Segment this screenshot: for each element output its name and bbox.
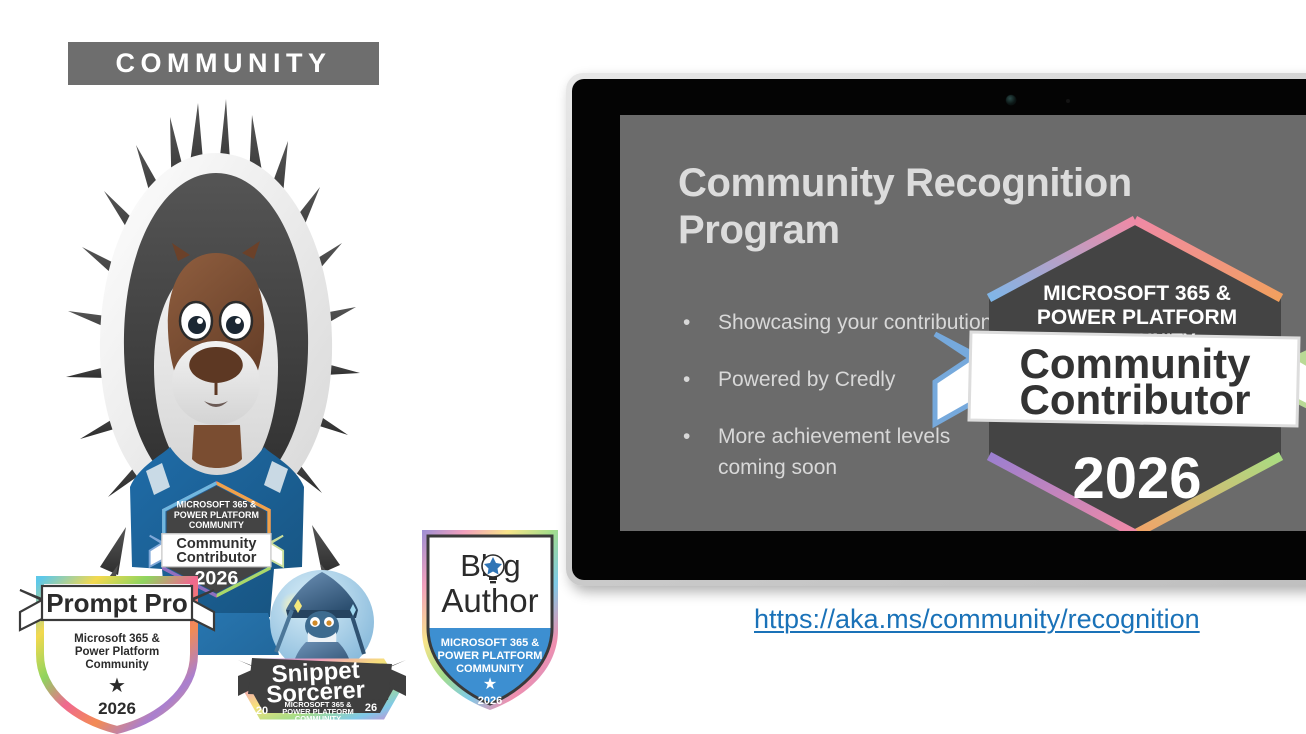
badge-prompt-pro: Prompt Pro Microsoft 365 & Power Platfor… <box>18 568 216 733</box>
svg-text:2026: 2026 <box>478 695 502 707</box>
year-right: 26 <box>365 702 377 714</box>
svg-text:Power Platform: Power Platform <box>75 646 159 658</box>
svg-text:Microsoft 365 &: Microsoft 365 & <box>74 633 160 645</box>
year-left: 20 <box>256 705 268 717</box>
sensor-icon <box>1066 99 1070 103</box>
badge-title-line2: Author <box>441 582 538 619</box>
svg-text:POWER PLATFORM: POWER PLATFORM <box>1037 306 1237 329</box>
bullet-icon: • <box>683 421 690 452</box>
svg-text:Contributor: Contributor <box>176 550 256 566</box>
star-icon: ★ <box>108 673 126 697</box>
recognition-link[interactable]: https://aka.ms/community/recognition <box>754 604 1200 635</box>
badge-title-tail: g <box>503 548 520 583</box>
svg-text:2026: 2026 <box>98 699 136 718</box>
svg-text:MICROSOFT 365 &: MICROSOFT 365 & <box>441 637 539 649</box>
bullet-icon: • <box>683 307 690 338</box>
community-contributor-badge: MICROSOFT 365 & POWER PLATFORM COMMUNITY… <box>925 212 1306 531</box>
bullet-text: Powered by Credly <box>718 368 895 391</box>
svg-text:COMMUNITY: COMMUNITY <box>189 520 244 530</box>
section-label-community: COMMUNITY <box>68 42 379 85</box>
bullet-icon: • <box>683 364 690 395</box>
svg-text:Community: Community <box>176 536 257 552</box>
badge-snippet-sorcerer: Snippet Sorcerer 20 26 MICROSOFT 365 & P… <box>232 566 412 734</box>
star-icon: ★ <box>483 674 497 693</box>
ribbon-line2: Contributor <box>1020 376 1251 423</box>
presentation-slide: Community Recognition Program • Showcasi… <box>620 115 1306 531</box>
svg-text:POWER PLATFORM: POWER PLATFORM <box>438 650 543 662</box>
neck <box>192 425 242 468</box>
svg-text:POWER PLATFORM: POWER PLATFORM <box>174 510 259 520</box>
badge-title: Prompt Pro <box>46 588 188 618</box>
badge-blog-author: Bl g Author MICROSOFT 365 & POWER PLATFO… <box>414 528 566 711</box>
svg-text:Community: Community <box>85 659 149 671</box>
camera-icon <box>1006 95 1016 105</box>
star-icon: ★ <box>312 722 325 734</box>
bullet-text: More achievement levels coming soon <box>718 425 950 479</box>
tablet-bezel: Community Recognition Program • Showcasi… <box>572 79 1306 580</box>
svg-text:MICROSOFT 365 &: MICROSOFT 365 & <box>176 499 256 509</box>
section-label-text: COMMUNITY <box>116 50 332 77</box>
svg-text:MICROSOFT 365 &: MICROSOFT 365 & <box>1043 282 1231 305</box>
badge-year: 2026 <box>1072 446 1201 511</box>
tablet-device: Community Recognition Program • Showcasi… <box>566 73 1306 586</box>
